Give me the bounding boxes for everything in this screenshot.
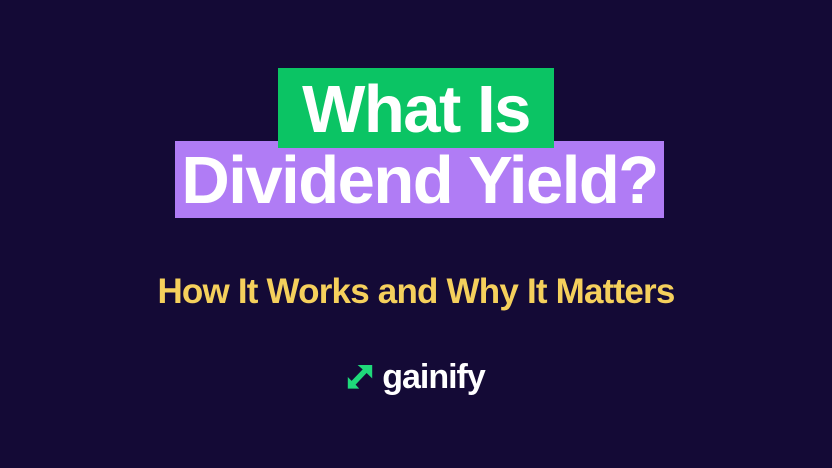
title-line2-text: Dividend Yield? xyxy=(181,147,657,214)
subtitle-text: How It Works and Why It Matters xyxy=(0,271,832,313)
title-block: What Is Dividend Yield? xyxy=(0,0,832,240)
title-slide: What Is Dividend Yield? How It Works and… xyxy=(0,0,832,468)
brand-wordmark: gainify xyxy=(382,360,485,394)
title-line1-highlight: What Is xyxy=(278,68,554,148)
brand-logo: gainify xyxy=(0,360,832,394)
title-line2-highlight: Dividend Yield? xyxy=(175,141,664,218)
title-line1-text: What Is xyxy=(302,76,530,143)
green-arrow-up-right-icon xyxy=(347,364,373,392)
